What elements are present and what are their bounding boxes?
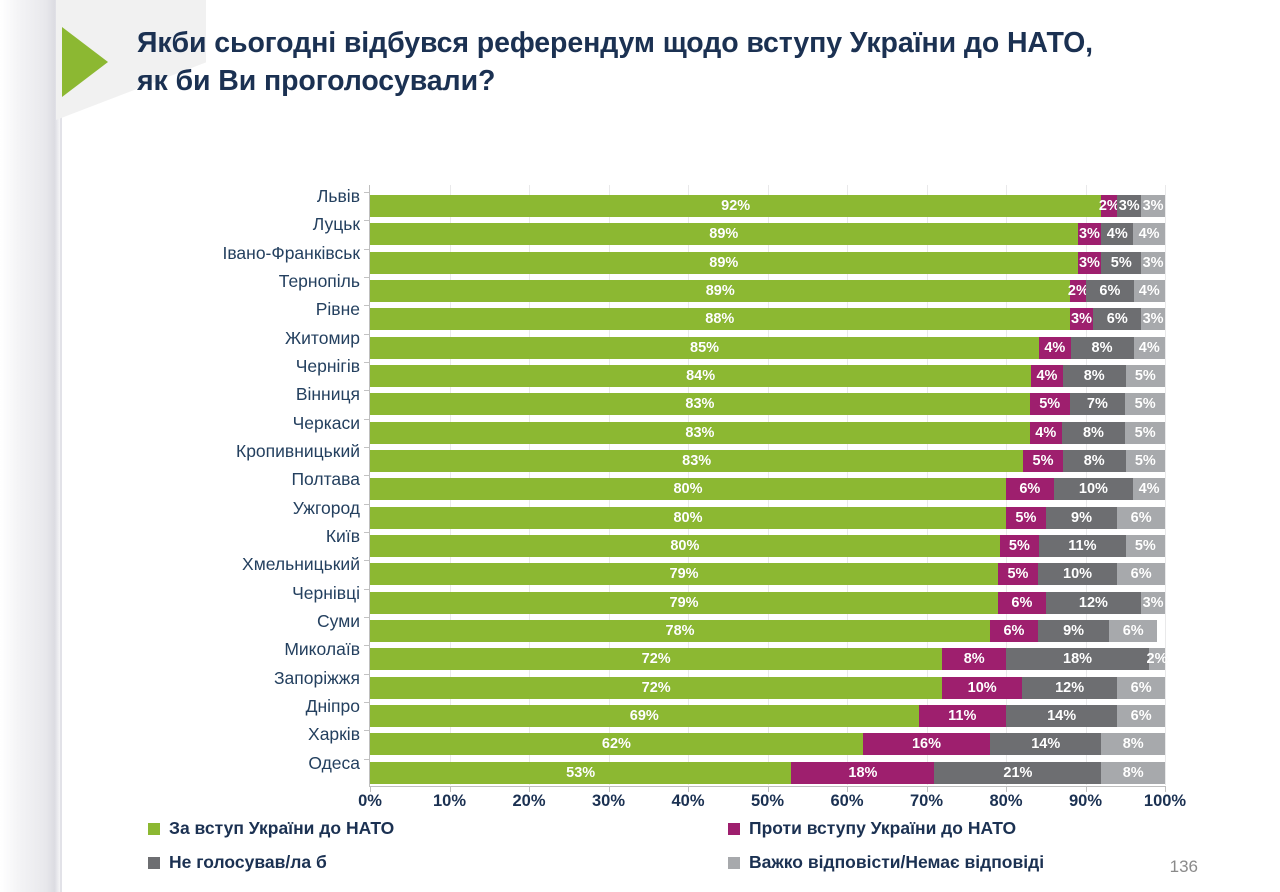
bar-segment[interactable]: 3% (1141, 252, 1165, 274)
bar-segment[interactable]: 84% (370, 365, 1031, 387)
bar-value-label: 8% (1083, 422, 1104, 444)
legend-item[interactable]: Проти вступу України до НАТО (728, 818, 1158, 839)
bar-segment[interactable]: 5% (1006, 507, 1046, 529)
bar-value-label: 7% (1087, 393, 1108, 415)
category-label: Луцьк (313, 213, 360, 235)
bar-segment[interactable]: 83% (370, 450, 1023, 472)
bar-value-label: 14% (1047, 705, 1076, 727)
bar-value-label: 6% (1107, 308, 1128, 330)
bar-value-label: 6% (1019, 478, 1040, 500)
bar-row[interactable]: 85%4%8%4% (370, 337, 1165, 359)
bar-value-label: 3% (1071, 308, 1092, 330)
category-label: Київ (326, 525, 360, 547)
bar-value-label: 5% (1033, 450, 1054, 472)
bar-value-label: 8% (1092, 337, 1113, 359)
bar-segment[interactable]: 53% (370, 762, 791, 784)
bar-segment[interactable]: 72% (370, 648, 942, 670)
bar-value-label: 4% (1107, 223, 1128, 245)
bar-value-label: 4% (1139, 337, 1160, 359)
bar-segment[interactable]: 5% (1126, 365, 1165, 387)
category-label: Житомир (285, 327, 360, 349)
gridline (1165, 185, 1166, 785)
bar-row[interactable]: 72%8%18%2% (370, 648, 1165, 670)
bar-value-label: 8% (1084, 365, 1105, 387)
bar-segment[interactable]: 8% (1101, 733, 1165, 755)
bar-value-label: 4% (1036, 365, 1057, 387)
bar-segment[interactable]: 4% (1134, 337, 1165, 359)
page-title: Якби сьогодні відбувся референдум щодо в… (137, 25, 1097, 101)
bar-value-label: 80% (673, 507, 702, 529)
bar-row[interactable]: 92%2%3%3% (370, 195, 1165, 217)
bar-segment[interactable]: 6% (1109, 620, 1157, 642)
bar-value-label: 80% (670, 535, 699, 557)
bar-segment[interactable]: 78% (370, 620, 990, 642)
bar-segment[interactable]: 6% (990, 620, 1038, 642)
bar-value-label: 8% (964, 648, 985, 670)
bar-segment[interactable]: 10% (1054, 478, 1134, 500)
x-axis-label: 40% (658, 792, 718, 811)
bar-segment[interactable]: 5% (998, 563, 1038, 585)
bar-segment[interactable]: 2% (1149, 648, 1165, 670)
bar-value-label: 5% (1135, 365, 1156, 387)
legend-item[interactable]: Не голосував/ла б (148, 852, 728, 873)
bar-value-label: 4% (1139, 478, 1160, 500)
x-axis-label: 90% (1056, 792, 1116, 811)
bar-value-label: 6% (1123, 620, 1144, 642)
bar-segment[interactable]: 6% (1086, 280, 1133, 302)
bar-value-label: 4% (1139, 223, 1160, 245)
bar-value-label: 88% (705, 308, 734, 330)
bar-segment[interactable]: 6% (1006, 478, 1054, 500)
bar-segment[interactable]: 5% (1023, 450, 1062, 472)
x-axis-label: 50% (738, 792, 798, 811)
bar-segment[interactable]: 2% (1101, 195, 1117, 217)
bar-segment[interactable]: 7% (1070, 393, 1126, 415)
bar-segment[interactable]: 18% (791, 762, 934, 784)
legend-swatch-hard-to-say-icon (728, 857, 740, 869)
bar-row[interactable]: 89%2%6%4% (370, 280, 1165, 302)
bar-value-label: 72% (642, 677, 671, 699)
bar-value-label: 12% (1079, 592, 1108, 614)
bar-segment[interactable]: 2% (1070, 280, 1086, 302)
bar-row[interactable]: 78%6%9%6% (370, 620, 1165, 642)
bar-segment[interactable]: 85% (370, 337, 1039, 359)
category-label: Кропивницький (236, 440, 360, 462)
category-label: Чернігів (296, 355, 360, 377)
bar-segment[interactable]: 3% (1078, 223, 1102, 245)
bar-value-label: 4% (1044, 337, 1065, 359)
bar-segment[interactable]: 83% (370, 422, 1030, 444)
bar-segment[interactable]: 12% (1022, 677, 1117, 699)
bar-segment[interactable]: 21% (934, 762, 1101, 784)
bar-segment[interactable]: 88% (370, 308, 1070, 330)
bar-value-label: 21% (1003, 762, 1032, 784)
category-label: Суми (317, 610, 360, 632)
bar-value-label: 83% (685, 393, 714, 415)
bar-segment[interactable]: 9% (1046, 507, 1118, 529)
bar-segment[interactable]: 6% (1117, 563, 1165, 585)
bar-value-label: 6% (1131, 507, 1152, 529)
y-axis-line (369, 185, 370, 786)
bar-segment[interactable]: 3% (1117, 195, 1141, 217)
bar-value-label: 3% (1079, 223, 1100, 245)
category-label: Івано-Франківськ (222, 242, 360, 264)
bar-value-label: 69% (630, 705, 659, 727)
legend-label: Важко відповісти/Немає відповіді (749, 852, 1044, 873)
bar-segment[interactable]: 89% (370, 280, 1070, 302)
play-triangle-icon (62, 27, 108, 97)
bar-value-label: 14% (1031, 733, 1060, 755)
bar-row[interactable]: 89%3%5%3% (370, 252, 1165, 274)
bar-segment[interactable]: 80% (370, 535, 1000, 557)
bar-row[interactable]: 79%6%12%3% (370, 592, 1165, 614)
bar-row[interactable]: 84%4%8%5% (370, 365, 1165, 387)
bar-row[interactable]: 88%3%6%3% (370, 308, 1165, 330)
bar-segment[interactable]: 9% (1038, 620, 1110, 642)
x-axis-label: 30% (579, 792, 639, 811)
bar-value-label: 3% (1079, 252, 1100, 274)
bar-value-label: 5% (1135, 535, 1156, 557)
legend-item[interactable]: За вступ України до НАТО (148, 818, 728, 839)
stacked-bar-chart: 92%2%3%3%89%3%4%4%89%3%5%3%89%2%6%4%88%3… (0, 175, 1280, 795)
bar-segment[interactable]: 8% (942, 648, 1006, 670)
bar-value-label: 62% (602, 733, 631, 755)
bar-value-label: 79% (670, 563, 699, 585)
bar-value-label: 5% (1007, 563, 1028, 585)
bar-segment[interactable]: 11% (919, 705, 1006, 727)
plot-area: 92%2%3%3%89%3%4%4%89%3%5%3%89%2%6%4%88%3… (370, 185, 1165, 785)
bar-value-label: 9% (1063, 620, 1084, 642)
bar-row[interactable]: 69%11%14%6% (370, 705, 1165, 727)
bar-segment[interactable]: 92% (370, 195, 1101, 217)
bar-value-label: 6% (1131, 705, 1152, 727)
bar-segment[interactable]: 5% (1125, 422, 1165, 444)
bar-segment[interactable]: 8% (1062, 422, 1126, 444)
bar-segment[interactable]: 79% (370, 592, 998, 614)
bar-value-label: 5% (1039, 393, 1060, 415)
bar-value-label: 89% (709, 223, 738, 245)
bar-segment[interactable]: 4% (1133, 478, 1165, 500)
bar-segment[interactable]: 5% (1030, 393, 1070, 415)
bar-segment[interactable]: 10% (1038, 563, 1118, 585)
bar-value-label: 5% (1015, 507, 1036, 529)
category-label: Харків (308, 723, 360, 745)
bar-row[interactable]: 72%10%12%6% (370, 677, 1165, 699)
category-label: Полтава (291, 468, 360, 490)
x-axis-label: 10% (420, 792, 480, 811)
bar-value-label: 12% (1055, 677, 1084, 699)
bar-segment[interactable]: 3% (1141, 195, 1165, 217)
category-label: Черкаси (293, 412, 360, 434)
bar-value-label: 3% (1143, 592, 1164, 614)
bar-segment[interactable]: 4% (1134, 280, 1165, 302)
category-label: Одеса (308, 752, 360, 774)
x-axis-label: 100% (1135, 792, 1195, 811)
legend-label: За вступ України до НАТО (169, 818, 394, 839)
legend-swatch-would-not-vote-icon (148, 857, 160, 869)
bar-segment[interactable]: 4% (1133, 223, 1165, 245)
bar-segment[interactable]: 6% (998, 592, 1046, 614)
legend-label: Не голосував/ла б (169, 852, 327, 873)
bar-value-label: 8% (1123, 762, 1144, 784)
bar-value-label: 6% (1003, 620, 1024, 642)
bar-value-label: 6% (1131, 563, 1152, 585)
category-label: Вінниця (296, 383, 360, 405)
bar-segment[interactable]: 4% (1039, 337, 1070, 359)
bar-value-label: 84% (686, 365, 715, 387)
bar-row[interactable]: 79%5%10%6% (370, 563, 1165, 585)
bar-segment[interactable]: 11% (1039, 535, 1126, 557)
bar-value-label: 11% (1068, 535, 1096, 557)
category-label: Хмельницький (242, 553, 360, 575)
bar-value-label: 80% (673, 478, 702, 500)
page-number: 136 (1170, 857, 1198, 877)
bar-segment[interactable]: 12% (1046, 592, 1141, 614)
bar-value-label: 85% (690, 337, 719, 359)
bar-segment[interactable]: 10% (942, 677, 1022, 699)
bar-value-label: 10% (1063, 563, 1092, 585)
bar-value-label: 6% (1099, 280, 1120, 302)
bar-value-label: 6% (1131, 677, 1152, 699)
bar-row[interactable]: 83%5%8%5% (370, 450, 1165, 472)
bar-value-label: 83% (685, 422, 714, 444)
bar-row[interactable]: 80%5%11%5% (370, 535, 1165, 557)
bar-value-label: 16% (912, 733, 941, 755)
bar-value-label: 78% (666, 620, 695, 642)
bar-segment[interactable]: 8% (1071, 337, 1134, 359)
bar-segment[interactable]: 69% (370, 705, 919, 727)
legend-item[interactable]: Важко відповісти/Немає відповіді (728, 852, 1158, 873)
bar-value-label: 5% (1111, 252, 1132, 274)
category-label: Дніпро (306, 695, 360, 717)
bar-value-label: 5% (1135, 422, 1156, 444)
bar-segment[interactable]: 5% (1126, 450, 1165, 472)
bar-value-label: 3% (1143, 252, 1164, 274)
legend-swatch-against-icon (728, 823, 740, 835)
bar-value-label: 5% (1009, 535, 1030, 557)
bar-value-label: 5% (1135, 393, 1156, 415)
bar-value-label: 53% (566, 762, 595, 784)
x-axis-label: 20% (499, 792, 559, 811)
bar-value-label: 11% (948, 705, 976, 727)
x-axis-label: 60% (817, 792, 877, 811)
bar-value-label: 18% (1063, 648, 1092, 670)
category-label: Чернівці (292, 582, 360, 604)
x-axis-label: 80% (976, 792, 1036, 811)
bar-row[interactable]: 80%6%10%4% (370, 478, 1165, 500)
x-axis-label: 0% (340, 792, 400, 811)
bar-segment[interactable]: 83% (370, 393, 1030, 415)
bar-value-label: 83% (682, 450, 711, 472)
category-label: Львів (317, 185, 360, 207)
bar-segment[interactable]: 14% (1006, 705, 1117, 727)
bar-segment[interactable]: 5% (1125, 393, 1165, 415)
bar-value-label: 4% (1139, 280, 1160, 302)
bar-row[interactable]: 83%4%8%5% (370, 422, 1165, 444)
bar-row[interactable]: 62%16%14%8% (370, 733, 1165, 755)
bar-segment[interactable]: 16% (863, 733, 990, 755)
bar-segment[interactable]: 5% (1000, 535, 1039, 557)
category-label: Запоріжжя (274, 667, 360, 689)
bar-segment[interactable]: 4% (1030, 422, 1062, 444)
bar-segment[interactable]: 3% (1141, 592, 1165, 614)
bar-value-label: 18% (848, 762, 877, 784)
bar-segment[interactable]: 79% (370, 563, 998, 585)
bar-segment[interactable]: 72% (370, 677, 942, 699)
bar-segment[interactable]: 80% (370, 507, 1006, 529)
bar-segment[interactable]: 6% (1093, 308, 1141, 330)
bar-segment[interactable]: 89% (370, 223, 1078, 245)
bar-value-label: 9% (1071, 507, 1092, 529)
bar-value-label: 10% (1079, 478, 1108, 500)
bar-value-label: 5% (1135, 450, 1156, 472)
bar-segment[interactable]: 14% (990, 733, 1101, 755)
bar-value-label: 89% (709, 252, 738, 274)
bar-value-label: 72% (642, 648, 671, 670)
bar-segment[interactable]: 3% (1070, 308, 1094, 330)
category-label: Тернопіль (279, 270, 360, 292)
category-label: Ужгород (293, 497, 360, 519)
bar-value-label: 10% (968, 677, 997, 699)
bar-value-label: 89% (706, 280, 735, 302)
bar-value-label: 79% (670, 592, 699, 614)
bar-value-label: 8% (1123, 733, 1144, 755)
bar-value-label: 3% (1143, 195, 1164, 217)
bar-value-label: 3% (1143, 308, 1164, 330)
bar-row[interactable]: 83%5%7%5% (370, 393, 1165, 415)
x-axis-label: 70% (897, 792, 957, 811)
legend-swatch-for-icon (148, 823, 160, 835)
bar-segment[interactable]: 4% (1101, 223, 1133, 245)
bar-segment[interactable]: 6% (1117, 677, 1165, 699)
chart-legend: За вступ України до НАТОПроти вступу Укр… (148, 818, 1148, 873)
bar-segment[interactable]: 5% (1101, 252, 1141, 274)
bar-segment[interactable]: 80% (370, 478, 1006, 500)
bar-segment[interactable]: 8% (1063, 365, 1126, 387)
bar-segment[interactable]: 89% (370, 252, 1078, 274)
category-label: Рівне (316, 298, 360, 320)
bar-row[interactable]: 89%3%4%4% (370, 223, 1165, 245)
bar-segment[interactable]: 8% (1101, 762, 1165, 784)
bar-segment[interactable]: 62% (370, 733, 863, 755)
bar-segment[interactable]: 3% (1078, 252, 1102, 274)
bar-segment[interactable]: 6% (1117, 705, 1165, 727)
bar-segment[interactable]: 4% (1031, 365, 1062, 387)
bar-segment[interactable]: 3% (1141, 308, 1165, 330)
bar-value-label: 6% (1011, 592, 1032, 614)
bar-value-label: 92% (721, 195, 750, 217)
bar-row[interactable]: 53%18%21%8% (370, 762, 1165, 784)
bar-value-label: 8% (1084, 450, 1105, 472)
bar-segment[interactable]: 8% (1063, 450, 1126, 472)
bar-segment[interactable]: 18% (1006, 648, 1149, 670)
bar-value-label: 2% (1147, 648, 1168, 670)
bar-value-label: 3% (1119, 195, 1140, 217)
bar-row[interactable]: 80%5%9%6% (370, 507, 1165, 529)
bar-segment[interactable]: 5% (1126, 535, 1165, 557)
legend-label: Проти вступу України до НАТО (749, 818, 1016, 839)
category-label: Миколаїв (284, 638, 360, 660)
bar-segment[interactable]: 6% (1117, 507, 1165, 529)
bar-value-label: 4% (1035, 422, 1056, 444)
